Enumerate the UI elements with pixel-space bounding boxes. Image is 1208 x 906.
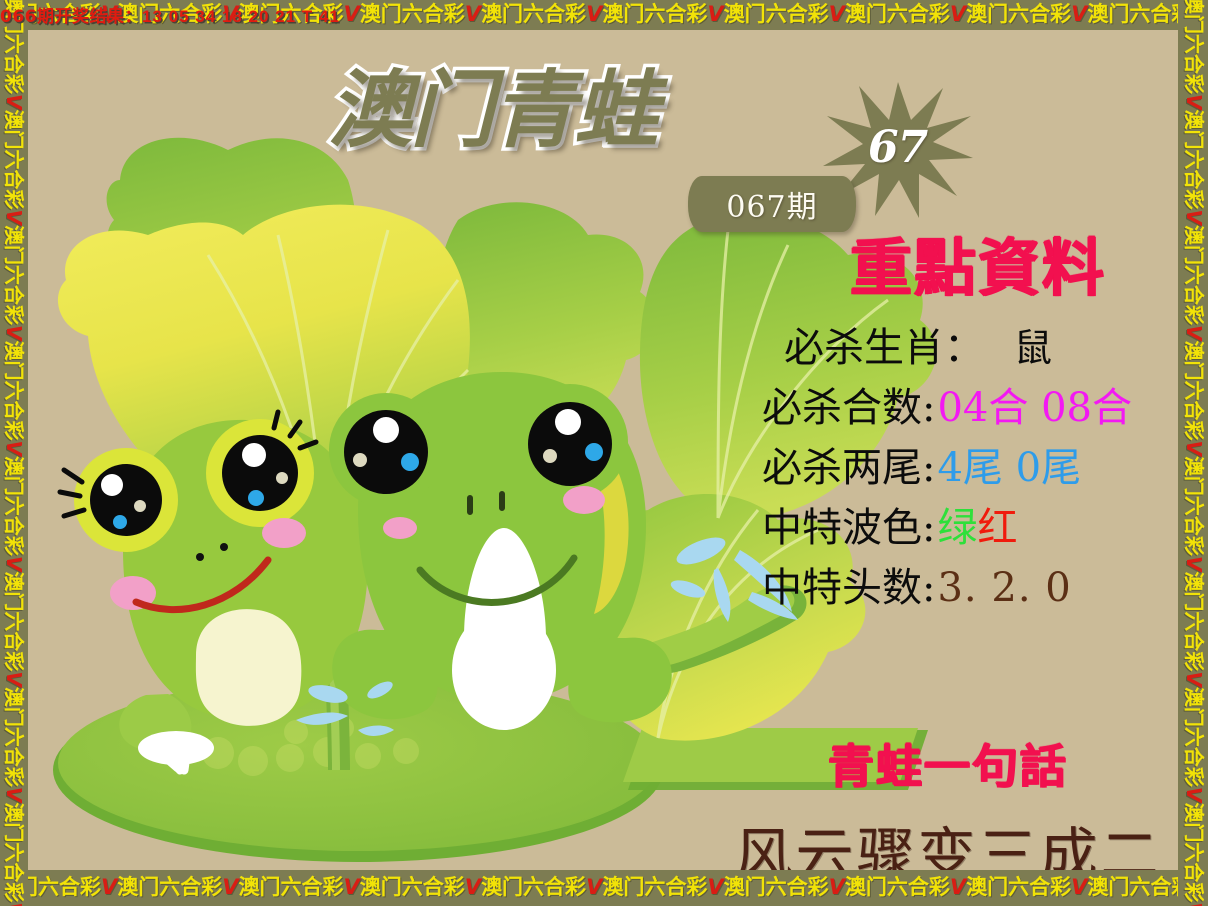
lottery-result-line: 066期开奖结果：13 05 34 18 20 21 T 41 (0, 2, 340, 27)
panel-title: 重點資料 (748, 235, 1178, 300)
row-kill-sum-value: 04合 08合 (937, 385, 1132, 431)
issue-badge: 067期 (688, 176, 856, 232)
row-kill-sum-label: 必杀合数: (762, 385, 935, 431)
row-kill-tails-value: 4尾 0尾 (937, 445, 1081, 491)
border-bottom: 澳门六合彩V澳门六合彩V澳门六合彩V澳门六合彩V澳门六合彩V澳门六合彩V澳门六合… (0, 870, 1208, 906)
wave-color-green: 绿 (937, 505, 977, 551)
row-head-numbers-value: 3. 2. 0 (937, 565, 1071, 611)
row-wave-color-label: 中特波色: (762, 505, 935, 551)
border-left: 澳门六合彩V澳门六合彩V澳门六合彩V澳门六合彩V澳门六合彩V澳门六合彩V澳门六合… (0, 0, 28, 906)
border-bottom-strip: 澳门六合彩V澳门六合彩V澳门六合彩V澳门六合彩V澳门六合彩V澳门六合彩V澳门六合… (0, 877, 1208, 898)
page-title: 澳门青蛙 (328, 68, 656, 152)
border-right-strip: 澳门六合彩V澳门六合彩V澳门六合彩V澳门六合彩V澳门六合彩V澳门六合彩V澳门六合… (1184, 0, 1204, 906)
info-panel: 重點資料 必杀生肖：鼠 必杀合数:04合 08合 必杀两尾:4尾 0尾 中特波色… (728, 235, 1178, 618)
lottery-result-label: 066期开奖结果： (0, 7, 142, 27)
row-head-numbers-label: 中特头数: (762, 565, 935, 611)
row-kill-tails-label: 必杀两尾: (762, 445, 935, 491)
panel-rows: 必杀生肖：鼠 必杀合数:04合 08合 必杀两尾:4尾 0尾 中特波色:绿红 中… (728, 318, 1178, 618)
row-head-numbers: 中特头数:3. 2. 0 (762, 558, 1178, 618)
lottery-result-numbers: 13 05 34 18 20 21 T 41 (142, 7, 340, 26)
issue-badge-label: 067期 (726, 182, 817, 226)
row-wave-color: 中特波色:绿红 (762, 498, 1178, 558)
row-kill-sum: 必杀合数:04合 08合 (762, 378, 1178, 438)
poster-root: 67 澳门青蛙 067期 重點資料 必杀生肖：鼠 必杀合数:04合 08合 必杀… (0, 0, 1208, 906)
row-kill-tails: 必杀两尾:4尾 0尾 (762, 438, 1178, 498)
row-kill-zodiac-value: 鼠 (1014, 326, 1052, 370)
saying-block: 青蛙一句話 风云骤变三成二 (688, 730, 1178, 870)
border-left-strip: 澳门六合彩V澳门六合彩V澳门六合彩V澳门六合彩V澳门六合彩V澳门六合彩V澳门六合… (4, 0, 24, 906)
burst-number: 67 (868, 122, 927, 173)
row-kill-zodiac: 必杀生肖：鼠 (762, 318, 1178, 378)
saying-title: 青蛙一句話 (688, 730, 1178, 796)
border-right: 澳门六合彩V澳门六合彩V澳门六合彩V澳门六合彩V澳门六合彩V澳门六合彩V澳门六合… (1178, 0, 1208, 906)
row-kill-zodiac-label: 必杀生肖： (784, 325, 984, 371)
row-wave-color-value: 绿红 (937, 505, 1017, 551)
wave-color-red: 红 (977, 505, 1017, 551)
saying-text: 风云骤变三成二 (688, 808, 1178, 870)
poster-canvas: 67 澳门青蛙 067期 重點資料 必杀生肖：鼠 必杀合数:04合 08合 必杀… (28, 30, 1178, 870)
